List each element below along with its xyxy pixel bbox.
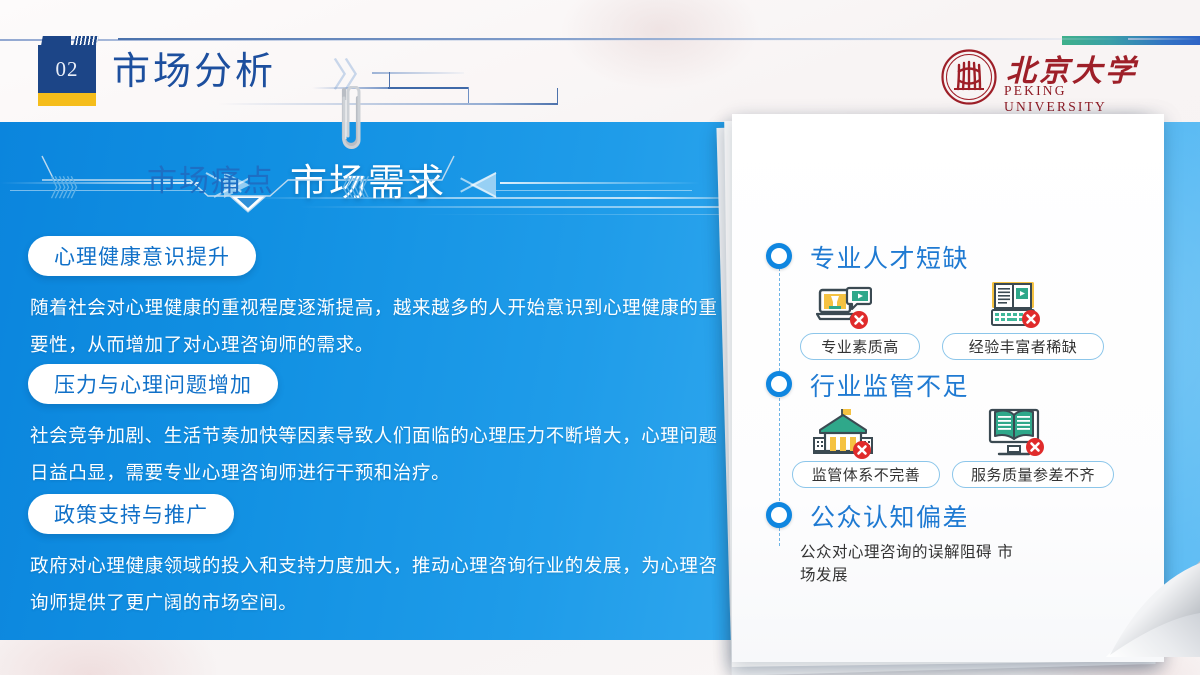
header-deco-line xyxy=(372,72,464,74)
demand-label-2-text: 压力与心理问题增加 xyxy=(54,369,252,399)
pain-bullet-2 xyxy=(766,371,792,397)
demand-body-1: 随着社会对心理健康的重视程度逐渐提高，越来越多的人开始意识到心理健康的重要性，从… xyxy=(30,290,720,364)
title-line xyxy=(500,182,700,184)
pain-item-2-tag-1: 监管体系不完善 xyxy=(792,461,940,488)
header-deco-line xyxy=(1128,38,1200,40)
header-deco-elbow xyxy=(389,72,390,88)
chevron-right-icon: 》》》 xyxy=(50,168,86,203)
page-curl xyxy=(1106,561,1200,657)
demand-label-3-text: 政策支持与推广 xyxy=(54,499,208,529)
book-keyboard-icon xyxy=(986,280,1042,326)
slide-root: 02 市场分析 〉〉 北京大学 PEKING UNIVERSITY xyxy=(0,0,1200,675)
pain-title: 市场痛点 xyxy=(126,156,296,200)
header-deco-line xyxy=(118,38,1128,40)
pain-bullet-1 xyxy=(766,243,792,269)
page-title: 市场分析 xyxy=(112,40,276,95)
demand-label-2: 压力与心理问题增加 xyxy=(28,364,278,404)
chevron-left-icon: 《《《 xyxy=(330,168,366,203)
pain-bullet-3 xyxy=(766,502,792,528)
pain-item-2-title: 行业监管不足 xyxy=(810,367,969,403)
pku-logo: 北京大学 PEKING UNIVERSITY xyxy=(938,48,1153,103)
demand-label-3: 政策支持与推广 xyxy=(28,494,234,534)
section-number: 02 xyxy=(56,57,79,82)
title-line xyxy=(496,190,692,191)
badge-gold-bar xyxy=(38,93,96,106)
government-building-icon xyxy=(812,408,876,460)
header-deco-line xyxy=(218,103,558,105)
demand-label-1: 心理健康意识提升 xyxy=(28,236,256,276)
pain-item-1-title: 专业人才短缺 xyxy=(810,239,969,275)
pain-item-1-tag-2: 经验丰富者稀缺 xyxy=(942,333,1104,360)
pain-item-2-tag-2: 服务质量参差不齐 xyxy=(952,461,1114,488)
section-number-badge: 02 xyxy=(38,45,96,93)
header-deco-elbow xyxy=(468,87,469,103)
pain-item-3-title: 公众认知偏差 xyxy=(810,498,969,534)
header-deco-line xyxy=(388,87,468,89)
pain-item-3-note: 公众对心理咨询的误解阻碍 市场发展 xyxy=(800,541,1015,587)
paperclip-icon xyxy=(338,86,364,158)
demand-body-3: 政府对心理健康领域的投入和支持力度加大，推动心理咨询行业的发展，为心理咨询师提供… xyxy=(30,548,720,622)
monitor-book-icon xyxy=(986,406,1046,460)
laptop-person-icon xyxy=(816,284,872,330)
header-deco-elbow xyxy=(557,88,558,104)
pain-item-1-tag-1: 专业素质高 xyxy=(800,333,920,360)
demand-body-2: 社会竞争加剧、生活节奏加快等因素导致人们面临的心理压力不断增大，心理问题日益凸显… xyxy=(30,418,720,492)
demand-label-1-text: 心理健康意识提升 xyxy=(54,241,230,271)
